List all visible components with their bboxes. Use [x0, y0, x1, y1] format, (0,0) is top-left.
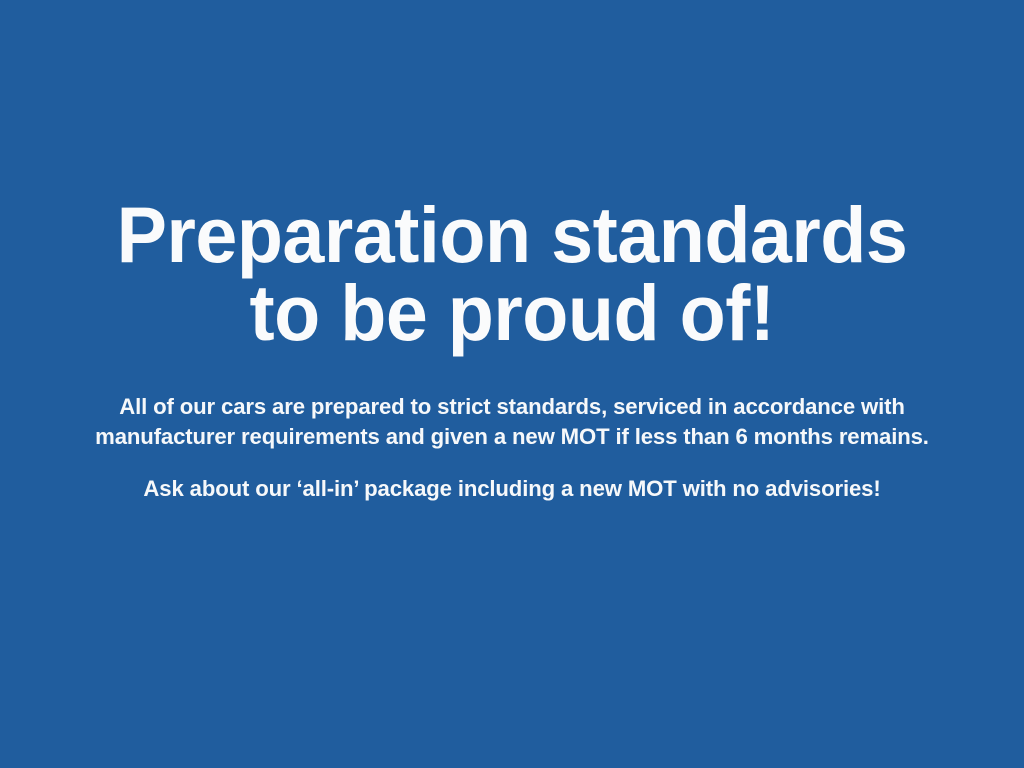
slide-headline: Preparation standards to be proud of! [84, 196, 940, 352]
slide-content: Preparation standards to be proud of! Al… [0, 196, 1024, 504]
slide-canvas: Preparation standards to be proud of! Al… [0, 0, 1024, 768]
body-paragraph-all-in-package: Ask about our ‘all-in’ package including… [79, 474, 946, 504]
body-paragraph-preparation-details: All of our cars are prepared to strict s… [79, 392, 946, 452]
slide-body: All of our cars are prepared to strict s… [64, 392, 960, 504]
